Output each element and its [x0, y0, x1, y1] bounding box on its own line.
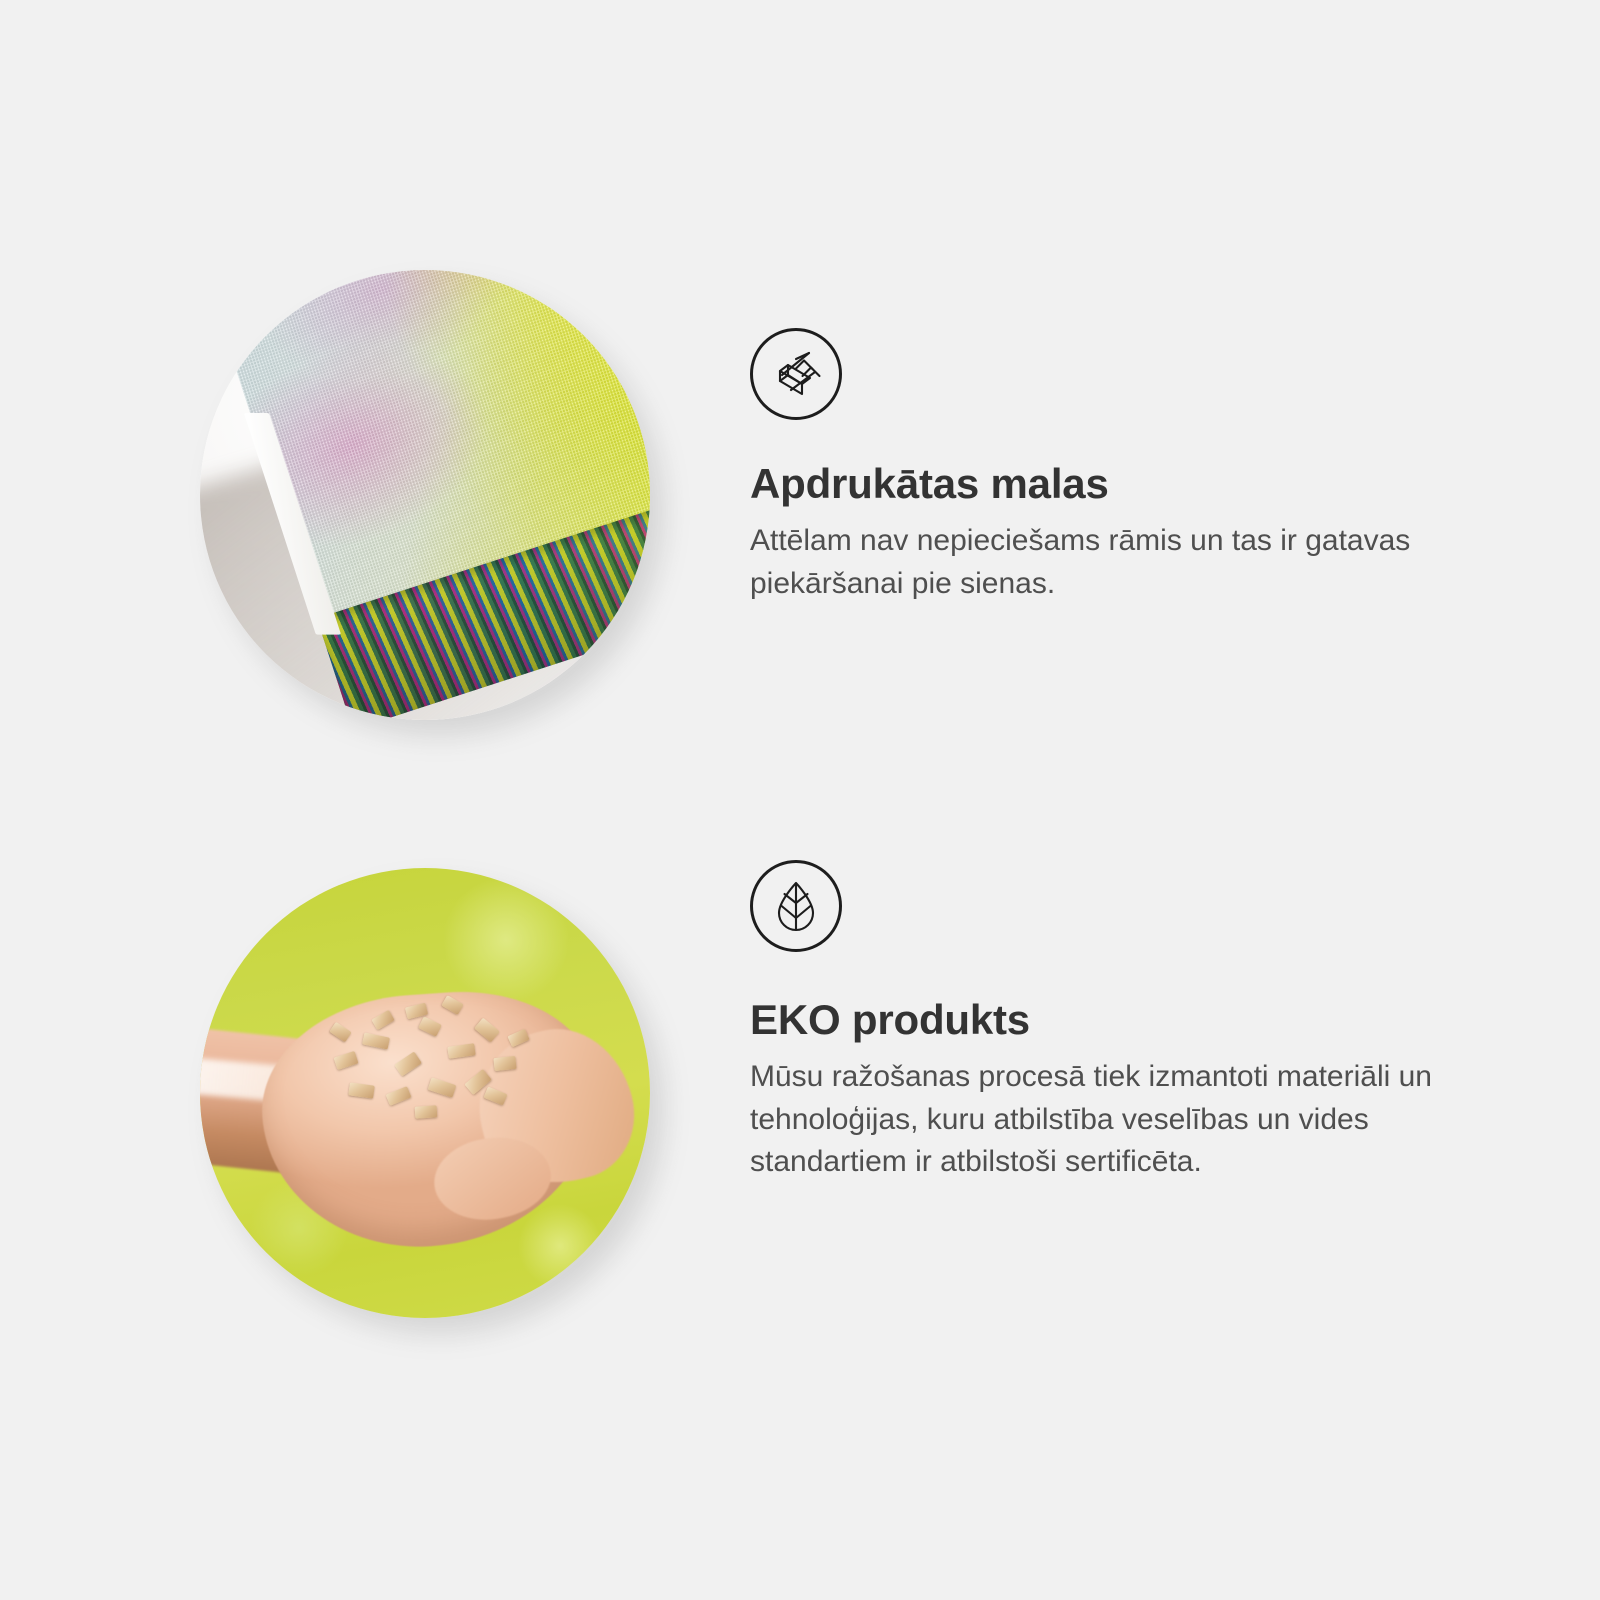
wood-chip — [418, 1016, 442, 1036]
wood-chip — [484, 1087, 508, 1106]
canvas-print-corner-photo — [200, 270, 650, 720]
feature-block-printed-edges: Apdrukātas malas Attēlam nav nepieciešam… — [0, 250, 1600, 770]
feature-title: EKO produkts — [750, 998, 1510, 1042]
wood-chip — [362, 1033, 390, 1050]
wood-chip — [441, 995, 463, 1015]
feature-title: Apdrukātas malas — [750, 462, 1510, 506]
feature-text-column: Apdrukātas malas Attēlam nav nepieciešam… — [750, 328, 1510, 605]
wood-chip — [415, 1105, 438, 1119]
wood-chip — [329, 1022, 351, 1043]
wood-chip — [507, 1029, 529, 1048]
wood-chip — [334, 1051, 359, 1070]
wood-chip — [349, 1083, 376, 1099]
feature-text-column: EKO produkts Mūsu ražošanas procesā tiek… — [750, 860, 1510, 1184]
feature-block-eco-product: EKO produkts Mūsu ražošanas procesā tiek… — [0, 848, 1600, 1348]
wood-chip — [474, 1018, 500, 1043]
feature-description: Mūsu ražošanas procesā tiek izmantoti ma… — [750, 1056, 1480, 1184]
media-circle — [200, 868, 650, 1318]
canvas-photo — [200, 270, 650, 720]
wood-chips-heap — [326, 990, 560, 1143]
wood-chip — [494, 1056, 517, 1071]
printed-edges-icon — [750, 328, 842, 420]
wood-chip — [394, 1051, 422, 1076]
product-features-page: Apdrukātas malas Attēlam nav nepieciešam… — [0, 0, 1600, 1600]
hand-holding-wood-chips-photo — [200, 868, 650, 1318]
media-circle — [200, 270, 650, 720]
wood-chip — [371, 1010, 394, 1030]
leaf-icon — [750, 860, 842, 952]
wood-chip — [447, 1043, 475, 1059]
feature-description: Attēlam nav nepieciešams rāmis un tas ir… — [750, 520, 1480, 605]
eco-photo — [200, 868, 650, 1318]
wood-chip — [428, 1078, 457, 1098]
wood-chip — [385, 1087, 411, 1107]
